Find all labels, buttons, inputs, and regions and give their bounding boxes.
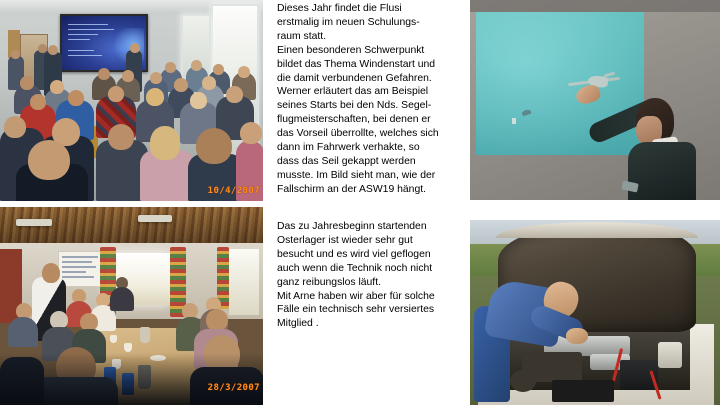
cable-marker [512, 118, 516, 124]
audience-head [196, 128, 232, 164]
text-line: flugmeisterschaften, bei denen er [277, 113, 463, 127]
text-line: Einen besonderen Schwerpunkt [277, 44, 463, 58]
slide-page: 10/4/2007 [0, 0, 720, 405]
wall-shadow [470, 0, 720, 12]
ceiling-lamp [16, 219, 52, 226]
text-line: Mit Arne haben wir aber für solche [277, 290, 463, 304]
text-line: musste. Im Bild sieht man, wie der [277, 169, 463, 183]
audience-head [238, 66, 250, 78]
text-block-flusi: Dieses Jahr findet die Flusi erstmalig i… [277, 2, 463, 197]
audience-head [122, 70, 134, 82]
clubhouse-dining-photo: 28/3/2007 [0, 207, 263, 405]
audience-head [240, 122, 262, 144]
foreground-shadow [0, 353, 263, 405]
text-line: Fallschirm an der ASW19 hängt. [277, 183, 463, 197]
engine-label-plate [552, 380, 614, 402]
text-line: Osterlager ist wieder sehr gut [277, 234, 463, 248]
cup [124, 343, 132, 352]
window-right [229, 249, 259, 315]
cup [110, 335, 117, 343]
dining-scene [0, 207, 263, 405]
text-line: Das zu Jahresbeginn startenden [277, 220, 463, 234]
reservoir [658, 342, 682, 368]
audience-head [98, 68, 110, 80]
guest-body [110, 287, 134, 311]
seminar-scene [0, 0, 263, 201]
audience-head-blond-long [150, 126, 180, 160]
audience-head-blond [146, 88, 164, 106]
text-line: seines Starts bei den Nds. Segel- [277, 99, 463, 113]
audience-head-bald [28, 140, 70, 180]
audience-head [4, 116, 26, 138]
photo-timestamp: 28/3/2007 [208, 383, 260, 393]
projection-scene [470, 0, 720, 200]
text-line: besucht und es wird viel geflogen [277, 248, 463, 262]
jug [140, 327, 150, 343]
speaker-right-head [130, 43, 140, 53]
audience-head [165, 62, 176, 73]
text-line: Werner erläutert das am Beispiel [277, 85, 463, 99]
audience-head [108, 124, 134, 150]
text-line: das Vorseil überrollte, welches sich [277, 127, 463, 141]
air-intake [510, 370, 536, 392]
text-line: auch wenn die Technik noch nicht [277, 262, 463, 276]
audience-head [174, 78, 188, 92]
audience-head [50, 80, 64, 94]
engine-scene [470, 220, 720, 405]
audience-head [68, 90, 84, 106]
parachute-shape [521, 109, 531, 117]
audience-head [213, 64, 224, 75]
guest-body [8, 317, 38, 347]
text-line: dann im Fahrwerk verhakte, so [277, 141, 463, 155]
audience-head [108, 86, 124, 102]
audience-head [190, 92, 207, 109]
text-line: Fälle ein technisch sehr versiertes [277, 303, 463, 317]
standing-person-head [42, 263, 60, 283]
seminar-room-photo: 10/4/2007 [0, 0, 263, 201]
photo-timestamp: 10/4/2007 [208, 186, 260, 196]
text-line: Dieses Jahr findet die Flusi [277, 2, 463, 16]
person-standing-left-head [11, 50, 20, 59]
text-line: raum statt. [277, 30, 463, 44]
audience-head [150, 72, 162, 84]
text-line: Mitglied . [277, 317, 463, 331]
speaker-center-head [48, 45, 58, 55]
text-block-osterlager: Das zu Jahresbeginn startenden Osterlage… [277, 220, 463, 331]
audience-head [20, 76, 34, 90]
projection-pointing-photo [470, 0, 720, 200]
presenter-torso [628, 142, 696, 200]
mechanic-hand [566, 328, 588, 344]
audience-head [226, 86, 243, 103]
text-line: ganz reibungslos läuft. [277, 276, 463, 290]
text-line: die damit verbundenen Gefahren. [277, 72, 463, 86]
text-line: erstmalig im neuen Schulungs- [277, 16, 463, 30]
ceiling-lamp [138, 215, 172, 222]
audience-head [30, 94, 46, 110]
audience-head [202, 76, 216, 90]
engine-repair-photo [470, 220, 720, 405]
text-line: dass das Seil gekappt werden [277, 155, 463, 169]
guest-head [206, 309, 228, 331]
speaker-left-head [38, 44, 47, 53]
audience-head [191, 60, 202, 71]
text-line: bildet das Thema Windenstart und [277, 58, 463, 72]
